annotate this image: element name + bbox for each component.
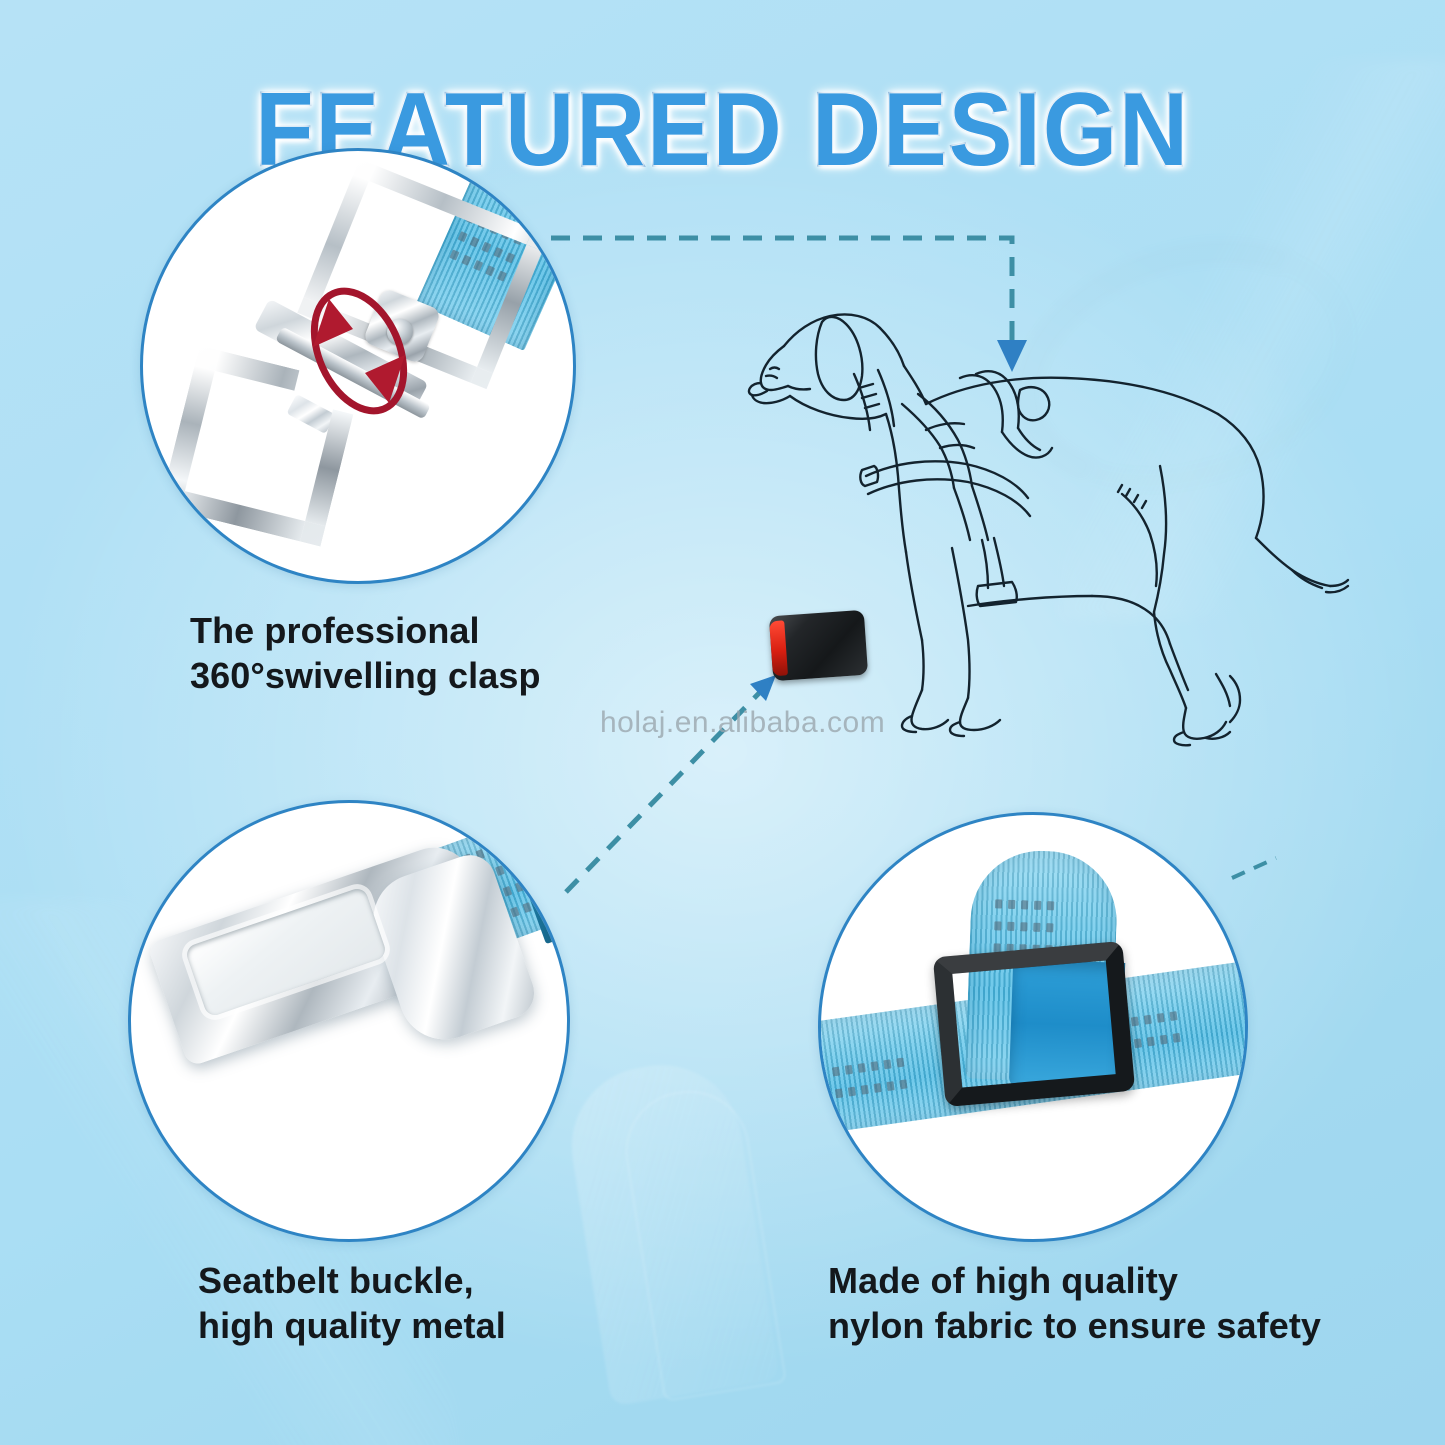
dog-wearing-harness-illustration xyxy=(726,266,1366,766)
nylon-circle-connector-stub xyxy=(1232,858,1276,878)
feature-circle-clasp[interactable] xyxy=(140,148,576,584)
feature-caption-clasp: The professional 360°swivelling clasp xyxy=(190,608,541,698)
feature-caption-buckle: Seatbelt buckle, high quality metal xyxy=(198,1258,506,1348)
background-product-ghost-icon xyxy=(560,1054,780,1407)
webbing-strap-end-icon xyxy=(526,876,570,944)
infographic-canvas: FEATURED DESIGN xyxy=(0,0,1445,1445)
plastic-slider-gloss-icon xyxy=(933,941,1135,1107)
page-title: FEATURED DESIGN xyxy=(58,78,1387,182)
site-watermark: holaj.en.alibaba.com xyxy=(600,706,885,740)
feature-circle-nylon[interactable] xyxy=(818,812,1248,1242)
rotation-360-arrow-icon xyxy=(293,277,425,425)
feature-circle-buckle[interactable] xyxy=(128,800,570,1242)
feature-caption-nylon: Made of high quality nylon fabric to ens… xyxy=(828,1258,1321,1348)
background-product-ghost-outline-icon xyxy=(617,1082,787,1402)
car-seatbelt-receptacle xyxy=(769,610,868,681)
